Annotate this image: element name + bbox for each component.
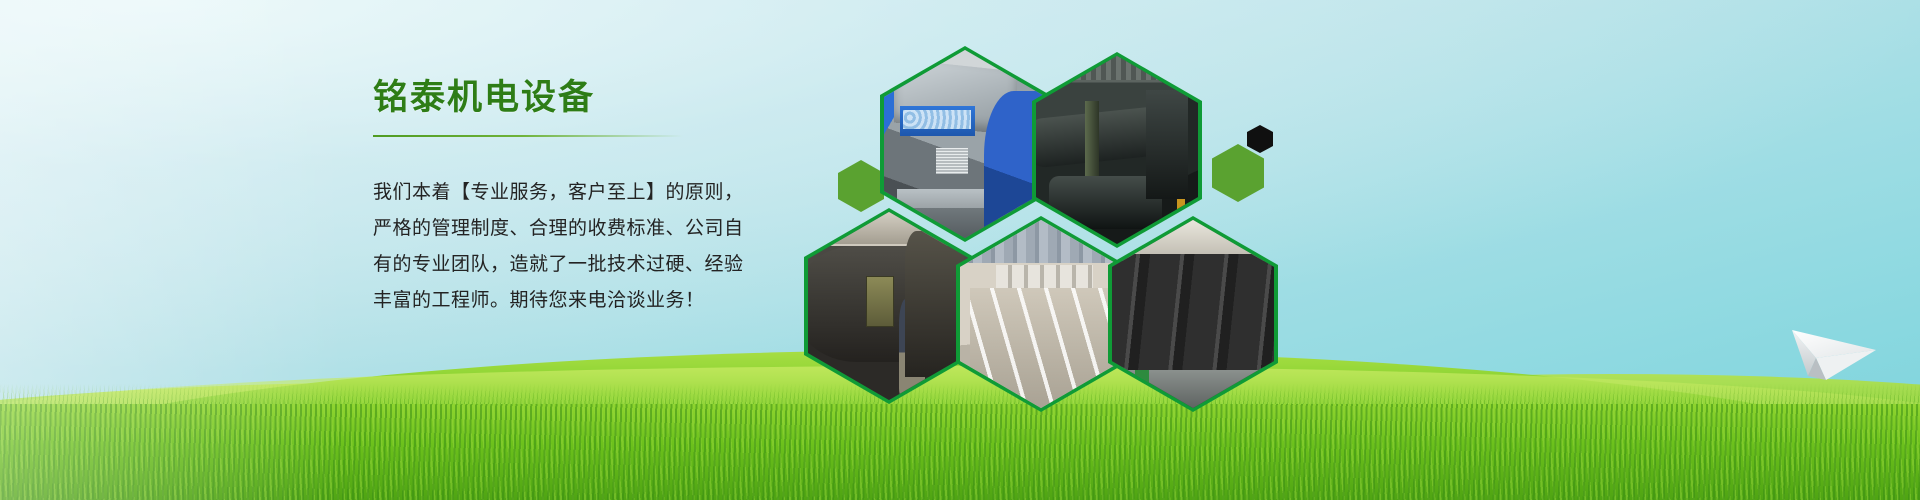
- photo-detail-coils: [1118, 269, 1267, 344]
- photo-detail-red-pipe: [976, 333, 1109, 347]
- photo-insulated-duct-worker: [808, 212, 970, 400]
- photo-detail-units: [996, 265, 1093, 288]
- description-line: 严格的管理制度、合理的收费标准、公司自: [373, 211, 773, 247]
- photo-detail-worker: [899, 299, 925, 397]
- description-line: 我们本着【专业服务，客户至上】的原则，: [373, 175, 773, 211]
- hexagon-photo-clip: [884, 50, 1046, 238]
- photo-detail-ceiling: [1036, 56, 1198, 80]
- promo-banner: 铭泰机电设备 我们本着【专业服务，客户至上】的原则， 严格的管理制度、合理的收费…: [0, 0, 1920, 500]
- photo-detail-blue-pipe: [973, 294, 1113, 313]
- photo-detail-pipe: [1085, 101, 1100, 184]
- hexagon-photo-insulated-duct-worker[interactable]: [804, 208, 974, 404]
- photo-detail-label: [936, 148, 968, 174]
- description-line: 有的专业团队，造就了一批技术过硬、经验: [373, 247, 773, 283]
- photo-condenser-bank: [1112, 220, 1274, 408]
- photo-rooftop-pipework: [960, 220, 1122, 408]
- hexagon-photo-clip: [1036, 56, 1198, 244]
- grass-foreground: [0, 404, 1920, 500]
- photo-ahu-duct-technician: [884, 50, 1046, 238]
- hexagon-photo-ahu-duct-technician[interactable]: [880, 46, 1050, 242]
- company-headline: 铭泰机电设备: [373, 78, 773, 118]
- hexagon-photo-clip: [808, 212, 970, 400]
- headline-underline: [373, 135, 683, 137]
- photo-detail-ice: [903, 110, 971, 129]
- photo-detail-control-box: [866, 276, 894, 327]
- green-hexagon-decor-right: [1212, 144, 1264, 202]
- banner-copy: 铭泰机电设备 我们本着【专业服务，客户至上】的原则， 严格的管理制度、合理的收费…: [373, 78, 773, 319]
- green-hexagon-decor-left: [838, 160, 884, 212]
- photo-detail-valve: [1177, 188, 1185, 214]
- paper-plane-icon: [1786, 314, 1882, 386]
- photo-detail-tank: [1049, 176, 1162, 229]
- hexagon-photo-clip: [1112, 220, 1274, 408]
- hexagon-photo-chiller-machine-room[interactable]: [1032, 52, 1202, 248]
- hexagon-photo-cluster: [780, 40, 1320, 380]
- description-line: 丰富的工程师。期待您来电洽谈业务！: [373, 283, 773, 319]
- dark-hexagon-decor: [1247, 125, 1273, 153]
- photo-chiller-machine-room: [1036, 56, 1198, 244]
- hexagon-photo-clip: [960, 220, 1122, 408]
- banner-description: 我们本着【专业服务，客户至上】的原则， 严格的管理制度、合理的收费标准、公司自 …: [373, 175, 773, 319]
- photo-detail-gauge: [1164, 174, 1175, 191]
